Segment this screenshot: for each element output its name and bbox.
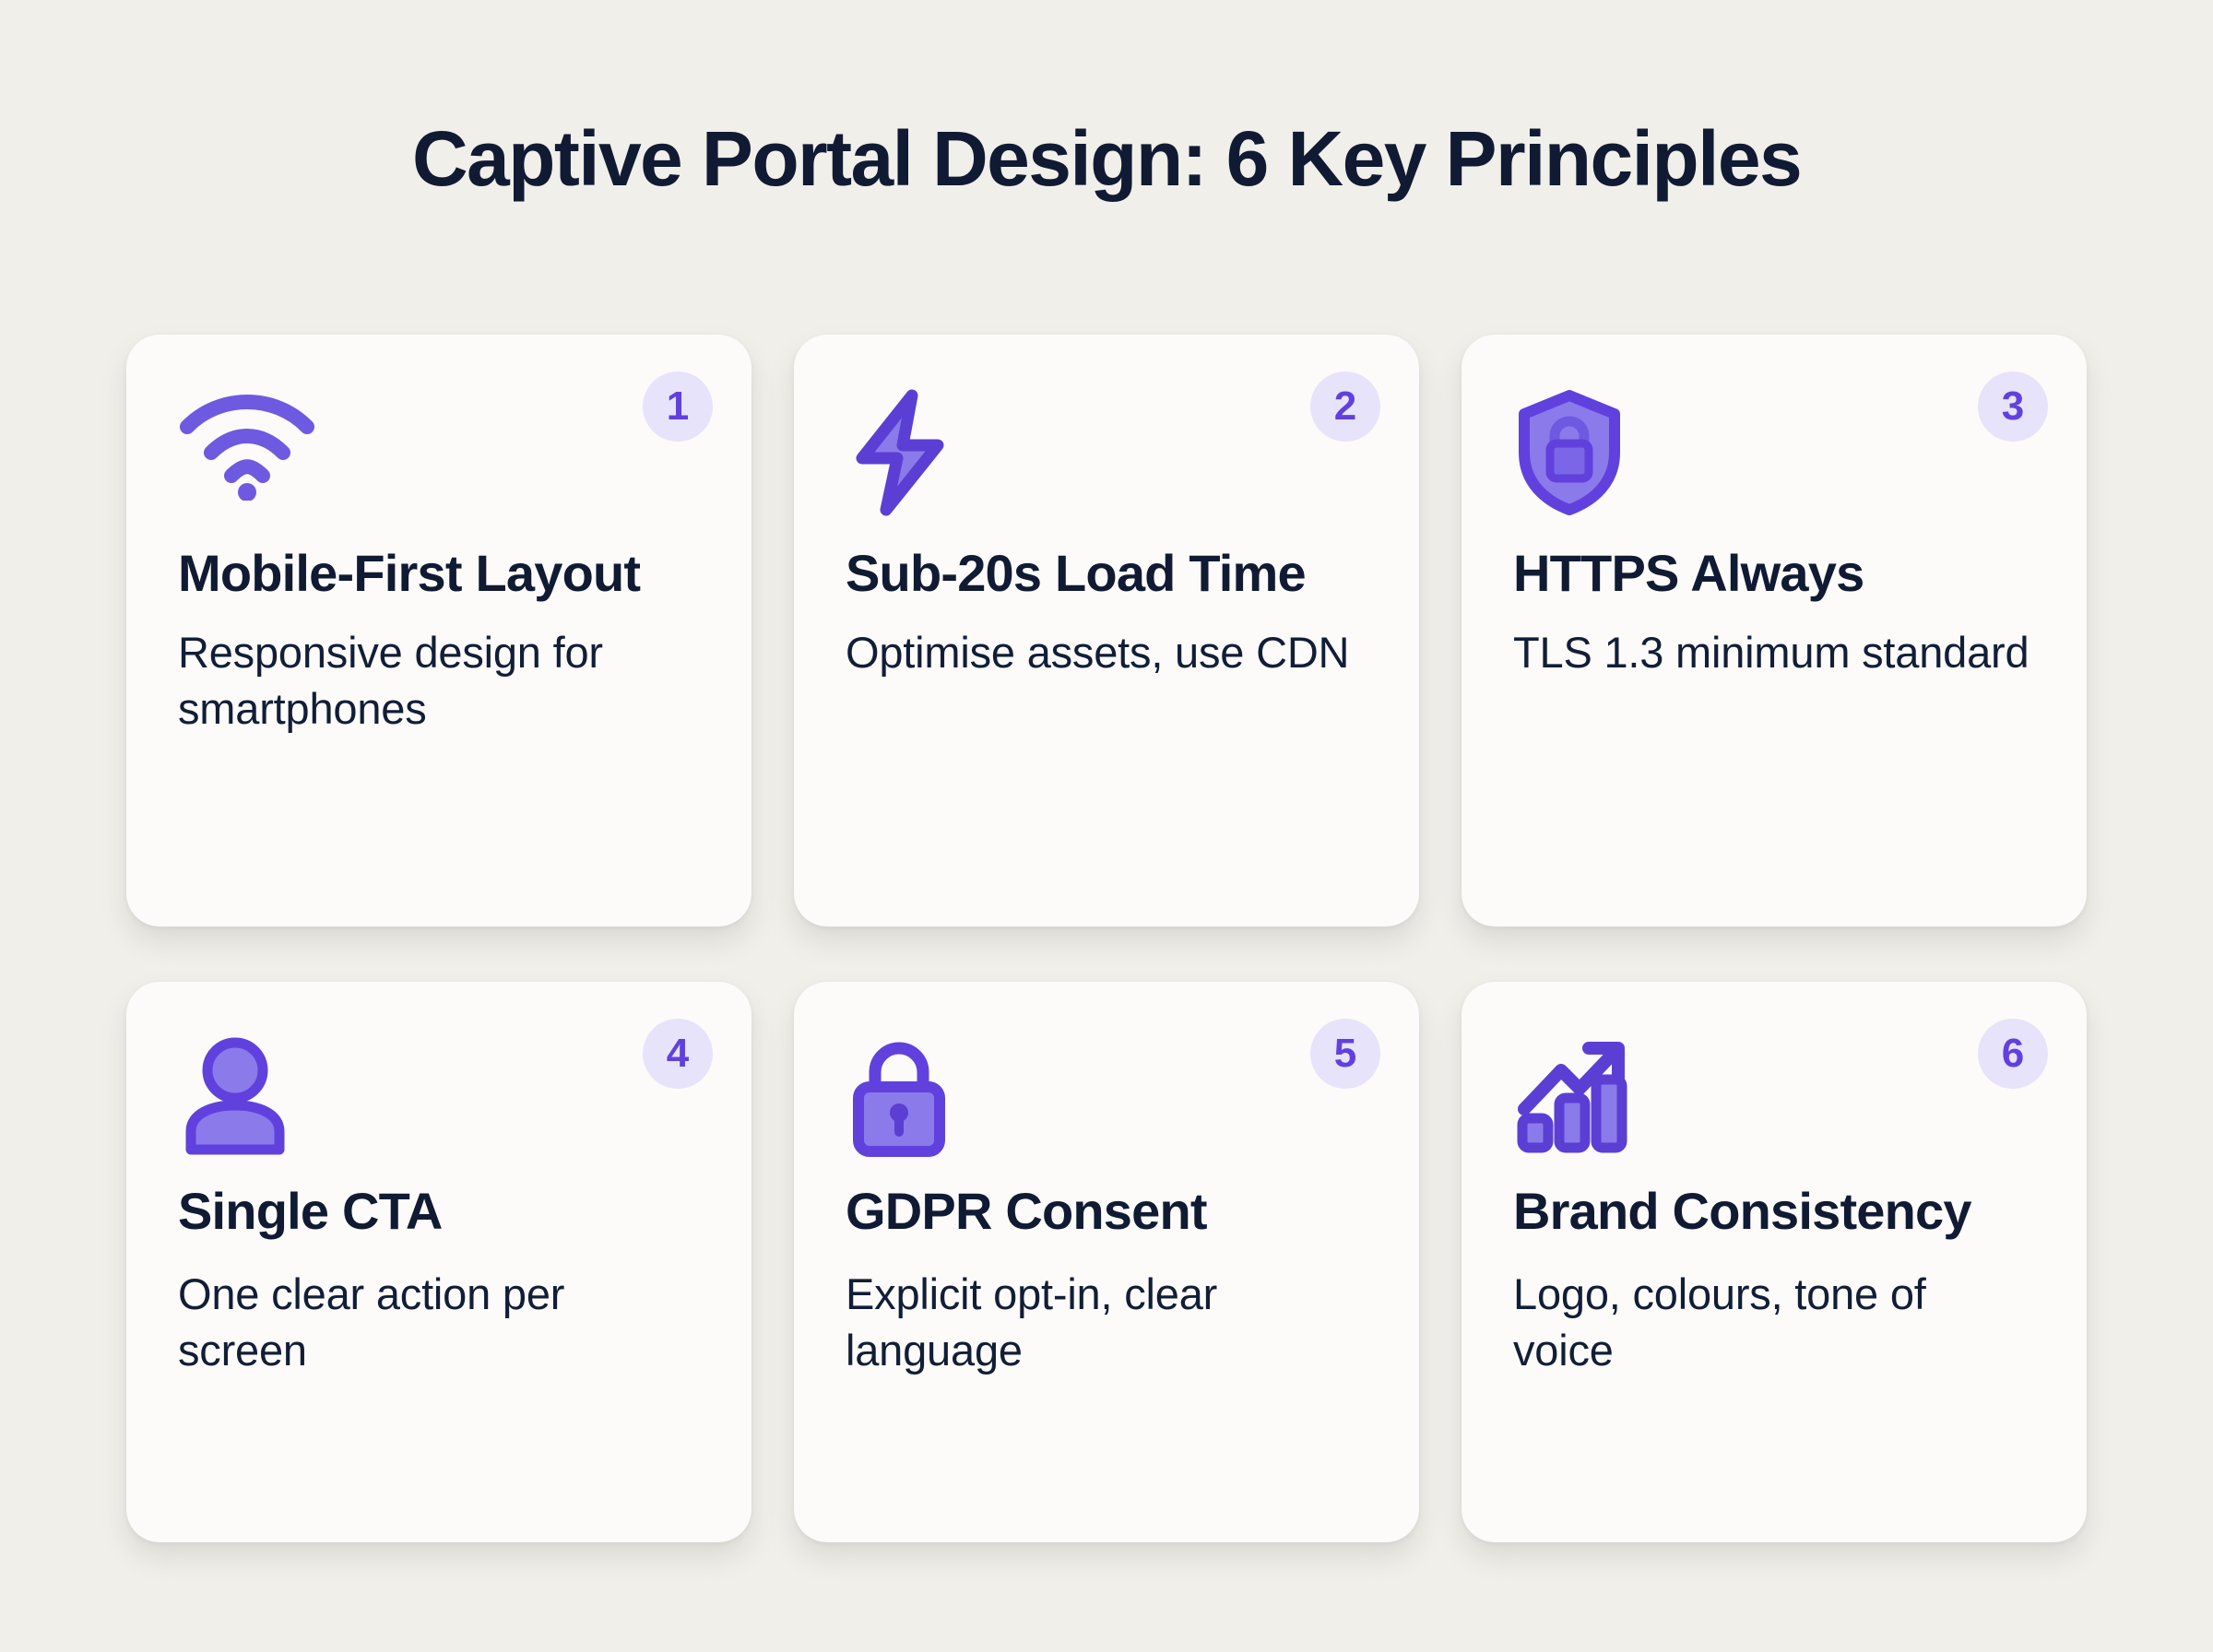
card-title: Mobile-First Layout xyxy=(178,543,700,604)
padlock-icon xyxy=(846,1035,1367,1164)
wifi-icon xyxy=(178,388,700,526)
card-title: Sub-20s Load Time xyxy=(846,543,1367,604)
card-number-badge: 1 xyxy=(643,372,713,442)
card-number-badge: 3 xyxy=(1978,372,2048,442)
page-title: Captive Portal Design: 6 Key Principles xyxy=(0,118,2213,199)
principle-card-3[interactable]: 3 HTTPS Always TLS 1.3 minimum standard xyxy=(1462,335,2087,926)
card-number-badge: 2 xyxy=(1310,372,1380,442)
card-title: Single CTA xyxy=(178,1181,700,1242)
card-title: Brand Consistency xyxy=(1513,1181,2035,1242)
principle-card-4[interactable]: 4 Single CTA One clear action per screen xyxy=(126,982,751,1542)
lightning-bolt-icon xyxy=(846,388,1367,526)
principle-card-2[interactable]: 2 Sub-20s Load Time Optimise assets, use… xyxy=(794,335,1419,926)
card-description: One clear action per screen xyxy=(178,1266,700,1378)
card-number-badge: 6 xyxy=(1978,1019,2048,1089)
principle-card-1[interactable]: 1 Mobile-First Layout Responsive design … xyxy=(126,335,751,926)
principle-card-5[interactable]: 5 GDPR Consent Explicit opt-in, clear la… xyxy=(794,982,1419,1542)
bar-chart-trending-up-icon xyxy=(1513,1035,2035,1164)
card-description: Responsive design for smartphones xyxy=(178,624,700,737)
principle-card-6[interactable]: 6 Brand Consistency Logo, colours, tone … xyxy=(1462,982,2087,1542)
card-title: GDPR Consent xyxy=(846,1181,1367,1242)
shield-lock-icon xyxy=(1513,388,2035,526)
card-description: Optimise assets, use CDN xyxy=(846,624,1367,680)
card-description: Explicit opt-in, clear language xyxy=(846,1266,1367,1378)
card-number-badge: 5 xyxy=(1310,1019,1380,1089)
card-description: Logo, colours, tone of voice xyxy=(1513,1266,2035,1378)
card-number-badge: 4 xyxy=(643,1019,713,1089)
principles-grid: 1 Mobile-First Layout Responsive design … xyxy=(126,335,2087,1542)
user-person-icon xyxy=(178,1035,700,1164)
infographic-page: Captive Portal Design: 6 Key Principles … xyxy=(0,0,2213,1652)
card-title: HTTPS Always xyxy=(1513,543,2035,604)
card-description: TLS 1.3 minimum standard xyxy=(1513,624,2035,680)
